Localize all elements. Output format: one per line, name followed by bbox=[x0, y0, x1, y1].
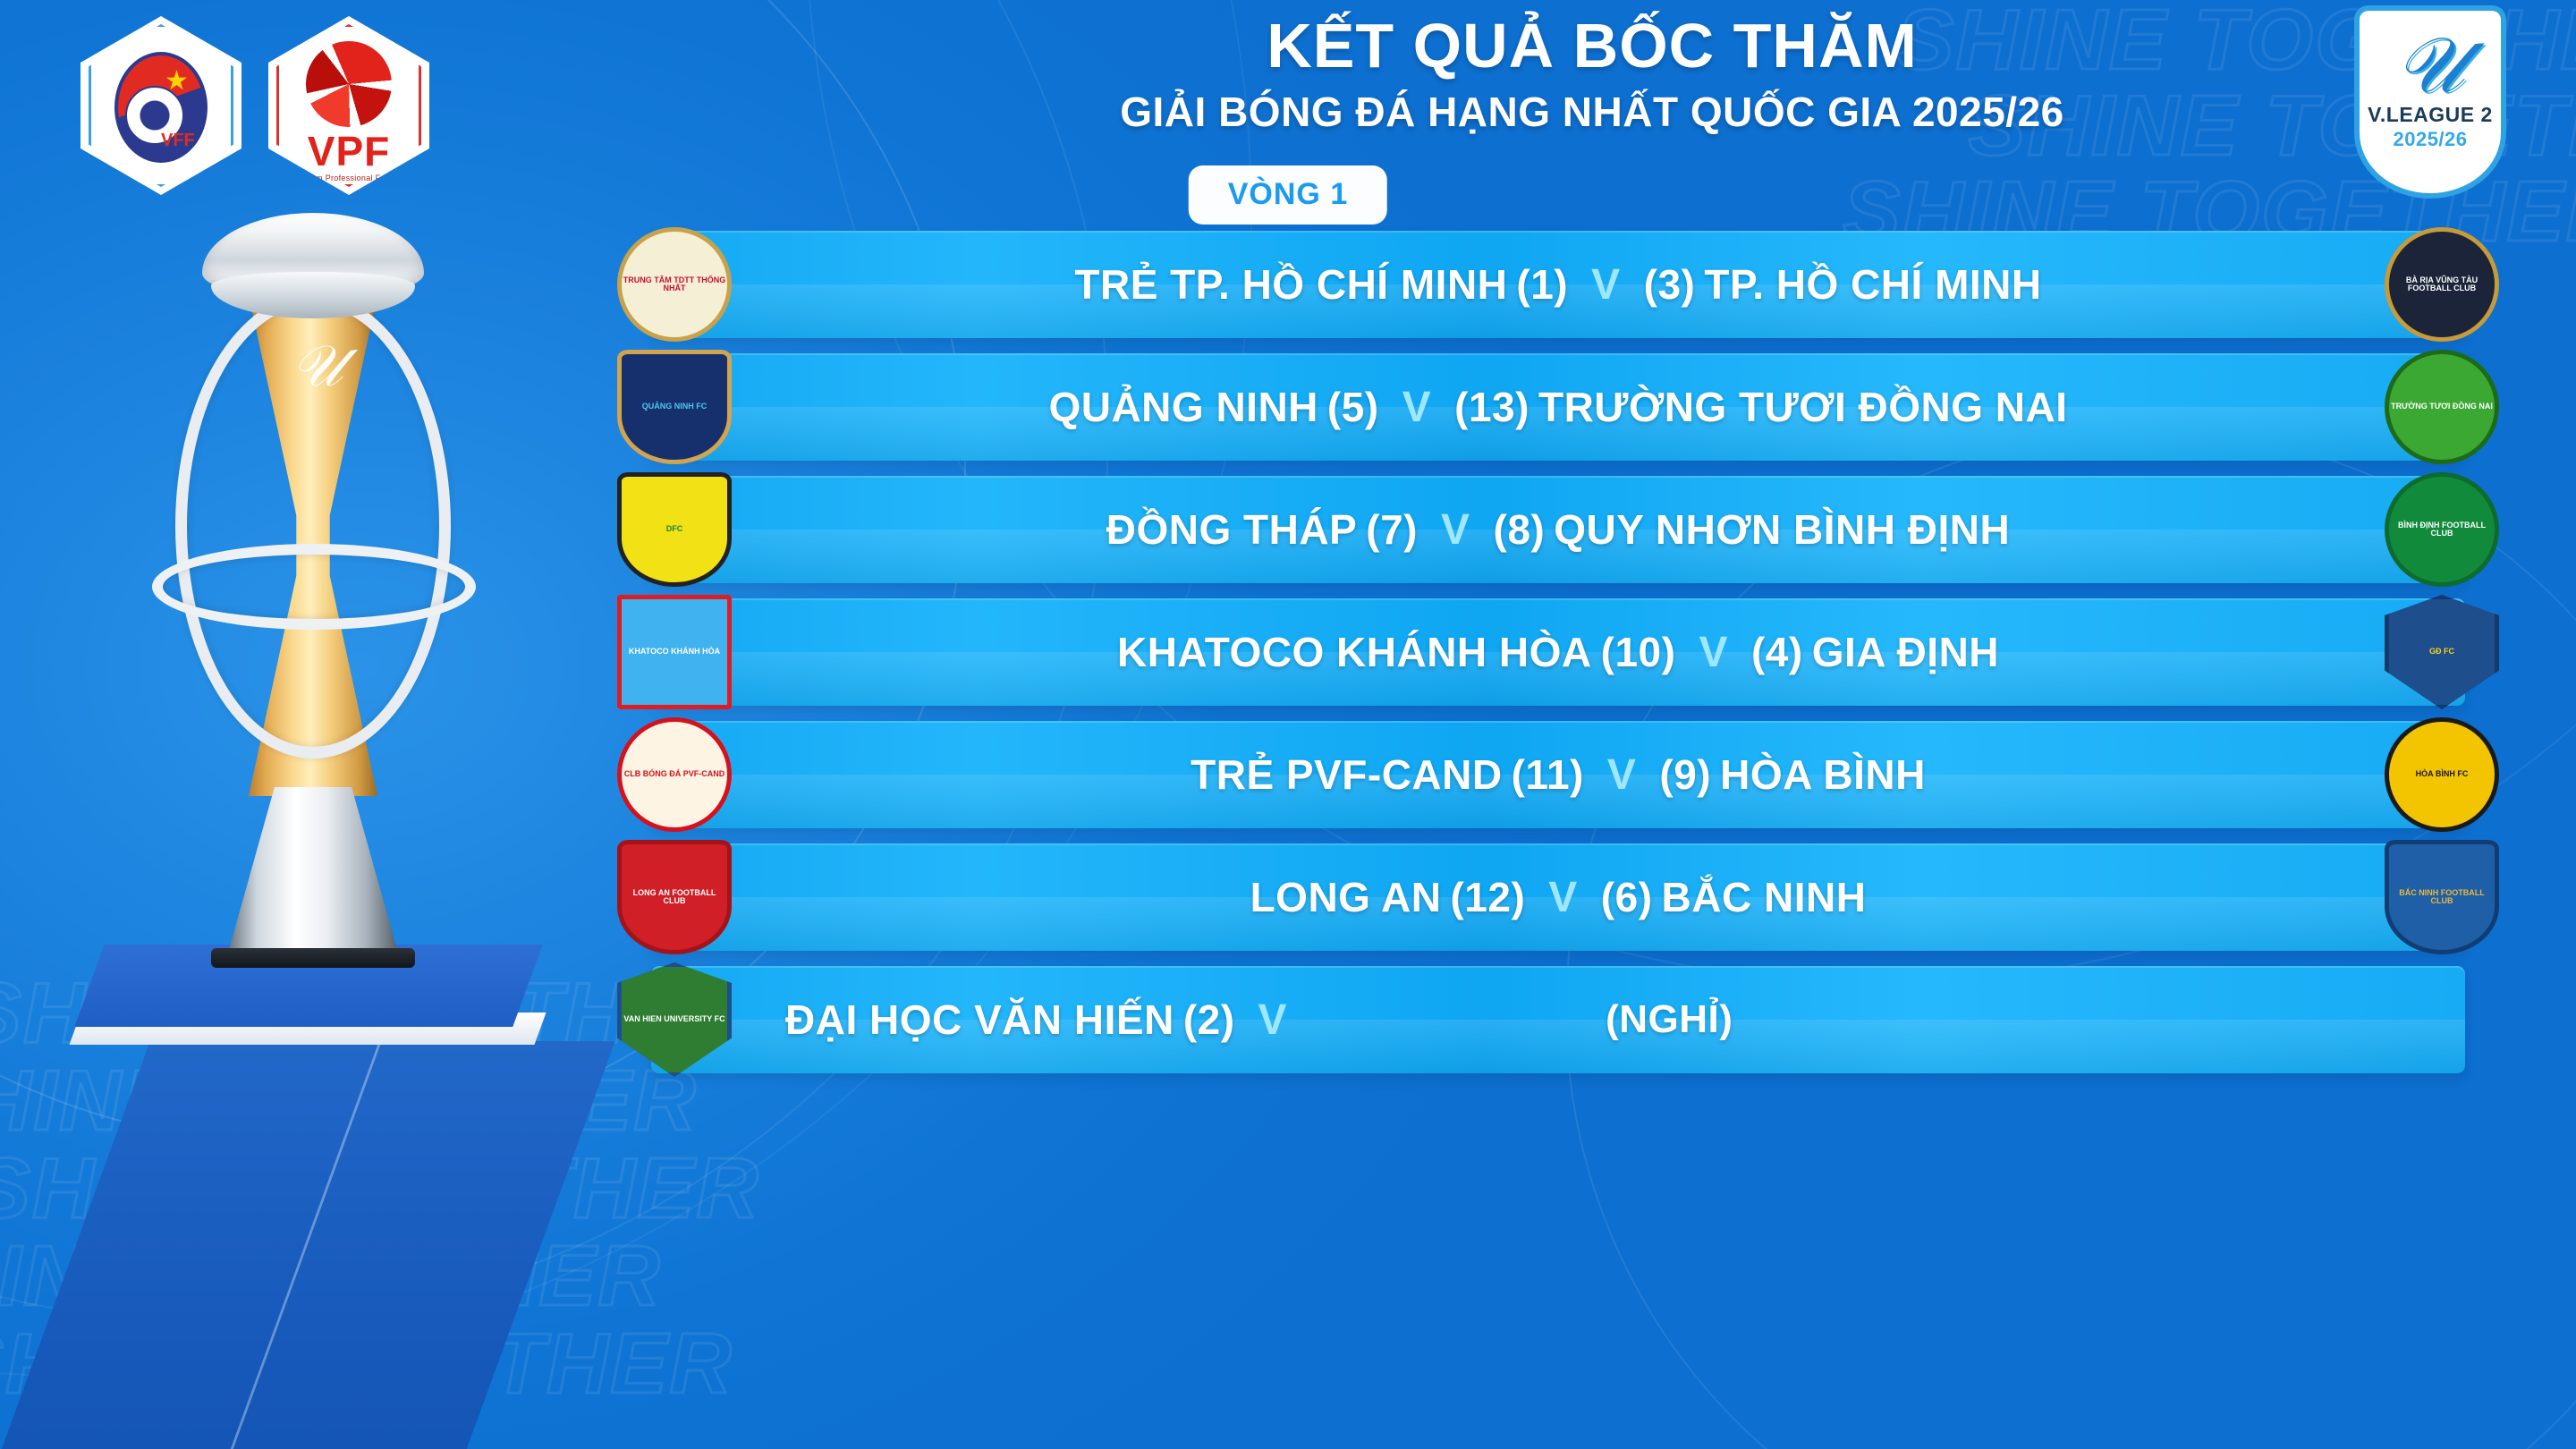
vleague2-badge: 𝒰 V.LEAGUE 2 2025/26 bbox=[2354, 5, 2506, 199]
versus-separator: V bbox=[1402, 383, 1432, 432]
away-seed: (9) bbox=[1659, 750, 1711, 799]
vff-label: VFF bbox=[161, 131, 195, 151]
versus-separator: V bbox=[1258, 996, 1288, 1045]
page-subtitle: GIẢI BÓNG ĐÁ HẠNG NHẤT QUỐC GIA 2025/26 bbox=[966, 88, 2218, 136]
home-team-name: TRẺ TP. HỒ CHÍ MINH bbox=[1074, 260, 1507, 309]
versus-separator: V bbox=[1699, 628, 1728, 677]
home-team-name: ĐẠI HỌC VĂN HIẾN bbox=[785, 996, 1174, 1044]
versus-separator: V bbox=[1548, 873, 1578, 922]
match-text: KHATOCO KHÁNH HÒA(10)V(4)GIA ĐỊNH bbox=[651, 598, 2465, 706]
away-seed: (6) bbox=[1601, 873, 1653, 921]
home-seed: (12) bbox=[1450, 873, 1525, 921]
podium-body bbox=[0, 1041, 614, 1449]
away-team-name: HÒA BÌNH bbox=[1720, 750, 1926, 799]
match-row[interactable]: QUẢNG NINH FCTRƯỜNG TƯƠI ĐỒNG NAIQUẢNG N… bbox=[0, 353, 2576, 461]
home-seed: (10) bbox=[1601, 628, 1676, 676]
home-team-name: TRẺ PVF-CAND bbox=[1191, 750, 1502, 799]
match-text: TRẺ PVF-CAND(11)V(9)HÒA BÌNH bbox=[651, 721, 2465, 828]
vleague2-name: V.LEAGUE 2 bbox=[2368, 103, 2493, 127]
home-seed: (7) bbox=[1366, 505, 1418, 554]
vpf-logo-border bbox=[276, 24, 421, 187]
home-team-name: ĐỒNG THÁP bbox=[1106, 505, 1358, 554]
match-row[interactable]: CLB BÓNG ĐÁ PVF-CANDHÒA BÌNH FCTRẺ PVF-C… bbox=[0, 721, 2576, 828]
away-team-name: TP. HỒ CHÍ MINH bbox=[1704, 260, 2041, 309]
away-team-name: GIA ĐỊNH bbox=[1812, 628, 1999, 676]
home-seed: (1) bbox=[1516, 260, 1568, 309]
match-row[interactable]: DFCBÌNH ĐỊNH FOOTBALL CLUBĐỒNG THÁP(7)V(… bbox=[0, 476, 2576, 583]
home-team-name: QUẢNG NINH bbox=[1048, 383, 1318, 431]
away-team-name: QUY NHƠN BÌNH ĐỊNH bbox=[1554, 505, 2010, 554]
vff-crest-icon: ★ VFF bbox=[114, 52, 208, 163]
home-team-name: LONG AN bbox=[1250, 873, 1442, 921]
away-team-name: TRƯỜNG TƯƠI ĐỒNG NAI bbox=[1538, 383, 2068, 431]
match-text: ĐẠI HỌC VĂN HIẾN(2)V(NGHỈ) bbox=[651, 966, 2465, 1073]
match-text: QUẢNG NINH(5)V(13)TRƯỜNG TƯƠI ĐỒNG NAI bbox=[651, 353, 2465, 461]
home-seed: (2) bbox=[1183, 996, 1235, 1044]
match-list: TRUNG TÂM TDTT THỐNG NHẤTBÀ RỊA VŨNG TÀU… bbox=[0, 231, 2576, 1089]
home-seed: (5) bbox=[1327, 383, 1379, 431]
vff-logo: ★ VFF bbox=[80, 16, 241, 195]
away-seed: (3) bbox=[1644, 260, 1696, 309]
home-seed: (11) bbox=[1512, 750, 1584, 799]
match-row[interactable]: KHATOCO KHÁNH HÒAGĐ FCKHATOCO KHÁNH HÒA(… bbox=[0, 598, 2576, 706]
versus-separator: V bbox=[1591, 260, 1621, 309]
away-team-name: BẮC NINH bbox=[1662, 873, 1867, 921]
vleague-swoosh-icon: 𝒰 bbox=[2395, 34, 2464, 97]
match-text: TRẺ TP. HỒ CHÍ MINH(1)V(3)TP. HỒ CHÍ MIN… bbox=[651, 231, 2465, 338]
federation-logos: ★ VFF VPF Vietnam Professional Football bbox=[80, 16, 429, 195]
match-text: LONG AN(12)V(6)BẮC NINH bbox=[651, 843, 2465, 951]
match-row[interactable]: LONG AN FOOTBALL CLUBBẮC NINH FOOTBALL C… bbox=[0, 843, 2576, 951]
page-title: KẾT QUẢ BỐC THĂM bbox=[966, 14, 2218, 77]
versus-separator: V bbox=[1441, 505, 1470, 555]
home-team-name: KHATOCO KHÁNH HÒA bbox=[1117, 628, 1592, 676]
vpf-logo: VPF Vietnam Professional Football bbox=[268, 16, 429, 195]
away-seed: (13) bbox=[1454, 383, 1529, 431]
bye-label: (NGHỈ) bbox=[1606, 997, 1733, 1042]
match-row[interactable]: TRUNG TÂM TDTT THỐNG NHẤTBÀ RỊA VŨNG TÀU… bbox=[0, 231, 2576, 338]
header-titles: KẾT QUẢ BỐC THĂM GIẢI BÓNG ĐÁ HẠNG NHẤT … bbox=[966, 14, 2218, 136]
match-row[interactable]: VAN HIEN UNIVERSITY FCĐẠI HỌC VĂN HIẾN(2… bbox=[0, 966, 2576, 1073]
versus-separator: V bbox=[1607, 750, 1637, 800]
round-badge: VÒNG 1 bbox=[1189, 165, 1387, 225]
away-seed: (8) bbox=[1494, 505, 1546, 554]
vleague2-season: 2025/26 bbox=[2393, 128, 2467, 151]
match-text: ĐỒNG THÁP(7)V(8)QUY NHƠN BÌNH ĐỊNH bbox=[651, 476, 2465, 583]
away-seed: (4) bbox=[1751, 628, 1803, 676]
